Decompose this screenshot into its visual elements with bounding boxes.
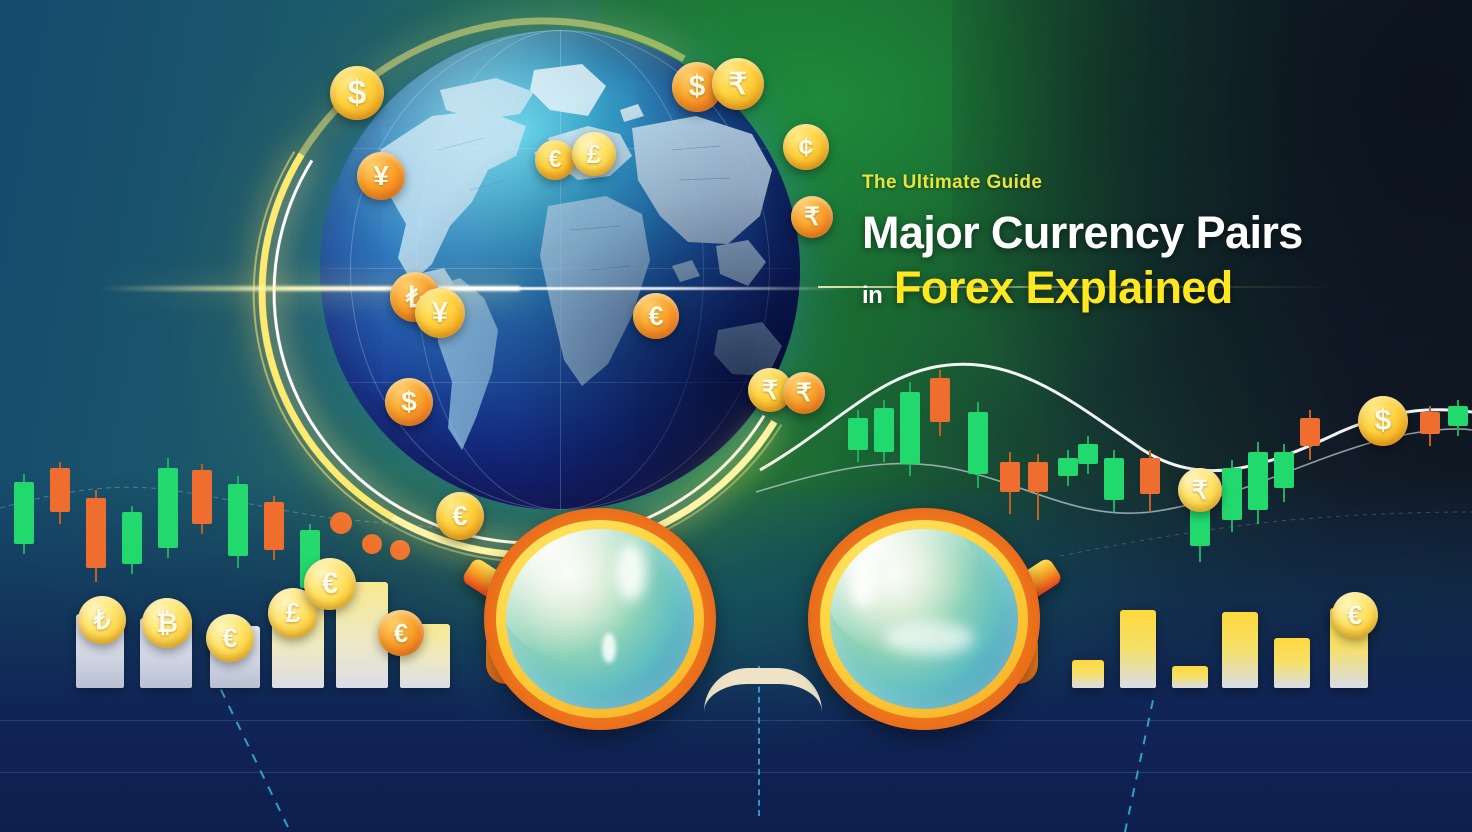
left-lens <box>484 508 716 730</box>
candlestick-wick <box>1457 426 1459 436</box>
light-beam-core <box>228 287 848 290</box>
candlestick-body <box>1248 452 1268 510</box>
rupee-coin: ₹ <box>712 58 764 110</box>
candlestick-wick <box>909 464 911 476</box>
candlestick-wick <box>939 370 941 378</box>
pound-coin: £ <box>572 132 616 176</box>
candlestick-wick <box>1037 454 1039 462</box>
candlestick-wick <box>1429 434 1431 446</box>
candlestick-body <box>1140 458 1160 494</box>
left-lens-glass <box>506 529 694 709</box>
candlestick-wick <box>1067 450 1069 458</box>
candlestick-body <box>900 392 920 464</box>
lens-glare <box>884 621 974 655</box>
headline-line-2: in Forex Explained <box>862 262 1462 322</box>
candlestick-wick <box>883 452 885 462</box>
euro-coin: € <box>304 558 356 610</box>
candlestick-body <box>1300 418 1320 446</box>
candlestick-body <box>848 418 868 450</box>
rupee-coin: ₹ <box>791 196 833 238</box>
right-lens-glass <box>830 529 1018 709</box>
candlestick-wick <box>1087 436 1089 444</box>
candlestick-wick <box>1283 488 1285 502</box>
candlestick-body <box>86 498 106 568</box>
euro-coin: € <box>535 140 575 180</box>
candlestick-wick <box>1149 450 1151 458</box>
cent-coin: ¢ <box>783 124 829 170</box>
candlestick-wick <box>1257 510 1259 524</box>
dollar-coin: $ <box>385 378 433 426</box>
lens-glare <box>506 529 666 663</box>
candlestick-wick <box>857 450 859 462</box>
lens-glare <box>616 543 646 601</box>
candlestick-wick <box>23 474 25 482</box>
euro-coin: € <box>378 610 424 656</box>
dollar-coin: $ <box>330 66 384 120</box>
headline-accent: Forex Explained <box>894 262 1233 313</box>
candlestick-body <box>122 512 142 564</box>
headline-line-1: Major Currency Pairs <box>862 208 1462 258</box>
candlestick-wick <box>237 556 239 568</box>
candlestick-body <box>192 470 212 524</box>
candlestick-body <box>228 484 248 556</box>
lira-coin: ₺ <box>78 596 126 644</box>
candlestick-wick <box>1199 546 1201 562</box>
candlestick-wick <box>1309 410 1311 418</box>
eyebrow-text: The Ultimate Guide <box>862 172 1462 194</box>
candlestick-wick <box>59 512 61 524</box>
lens-glare <box>850 555 876 609</box>
candlestick-body <box>1420 412 1440 434</box>
candlestick-wick <box>237 476 239 484</box>
candlestick-wick <box>1087 464 1089 474</box>
candlestick-body <box>1448 406 1468 426</box>
rupee-coin: ₹ <box>783 372 825 414</box>
bar <box>1222 612 1258 688</box>
candlestick-body <box>968 412 988 474</box>
candlestick-body <box>1078 444 1098 464</box>
candlestick-body <box>14 482 34 544</box>
candlestick-wick <box>201 524 203 534</box>
candlestick-wick <box>1231 520 1233 532</box>
candlestick-body <box>930 378 950 422</box>
rupee-coin: ₹ <box>1178 468 1222 512</box>
eyeglasses <box>452 484 1072 734</box>
candlestick-body <box>1222 468 1242 520</box>
candlestick-wick <box>1149 494 1151 512</box>
candlestick-wick <box>1257 442 1259 452</box>
candlestick-wick <box>883 400 885 408</box>
candlestick-wick <box>95 490 97 498</box>
euro-coin: € <box>1332 592 1378 638</box>
candlestick-body <box>874 408 894 452</box>
candlestick-wick <box>1309 446 1311 460</box>
candlestick-wick <box>167 548 169 558</box>
dollar-coin: $ <box>1358 396 1408 446</box>
candlestick-wick <box>1009 452 1011 462</box>
hero-banner: ₹$ <box>0 0 1472 832</box>
candlestick-wick <box>131 564 133 574</box>
candlestick-wick <box>167 458 169 468</box>
candlestick-wick <box>95 568 97 582</box>
candlestick-wick <box>1283 444 1285 452</box>
candlestick-body <box>158 468 178 548</box>
euro-coin: € <box>633 293 679 339</box>
yen-coin: ¥ <box>357 152 405 200</box>
candlestick-wick <box>1113 450 1115 458</box>
candlestick-wick <box>1113 500 1115 512</box>
bar <box>1120 610 1156 688</box>
candlestick-wick <box>977 402 979 412</box>
candlestick-wick <box>909 382 911 392</box>
nose-bridge <box>704 668 822 712</box>
candlestick-body <box>1058 458 1078 476</box>
euro-coin: € <box>206 614 254 662</box>
yen-coin: ¥ <box>415 288 465 338</box>
headline-block: The Ultimate Guide Major Currency Pairs … <box>862 172 1462 322</box>
bitcoin-coin: ₿ <box>142 598 192 648</box>
lens-glare <box>602 633 616 663</box>
bar <box>1172 666 1208 688</box>
candlestick-wick <box>939 422 941 436</box>
candlestick-wick <box>23 544 25 554</box>
right-lens <box>808 508 1040 730</box>
candlestick-wick <box>857 410 859 418</box>
candlestick-wick <box>1231 460 1233 468</box>
candlestick-body <box>50 468 70 512</box>
bar <box>1274 638 1310 688</box>
bar <box>1072 660 1104 688</box>
candlestick-body <box>1274 452 1294 488</box>
candlestick-body <box>1104 458 1124 500</box>
headline-connector: in <box>862 282 882 309</box>
